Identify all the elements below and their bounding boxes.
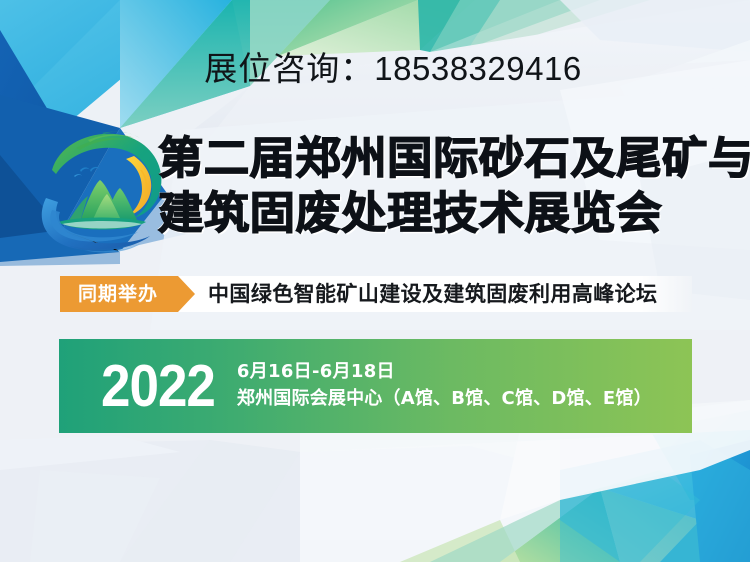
concurrent-forum-strip: 同期举办 中国绿色智能矿山建设及建筑固废利用高峰论坛	[60, 276, 692, 312]
concurrent-forum-title: 中国绿色智能矿山建设及建筑固废利用高峰论坛	[178, 276, 692, 312]
event-details: 6月16日-6月18日 郑州国际会展中心（A馆、B馆、C馆、D馆、E馆）	[237, 359, 692, 413]
poster-title-line-1: 第二届郑州国际砂石及尾矿与	[158, 131, 745, 186]
booth-consult-line: 展位咨询：18538329416	[0, 47, 750, 91]
concurrent-forum-badge: 同期举办	[60, 276, 178, 312]
event-dates: 6月16日-6月18日	[237, 359, 692, 385]
exhibition-poster: 展位咨询：18538329416	[0, 0, 750, 562]
poster-title-line-2: 建筑固废处理技术展览会	[158, 186, 745, 241]
event-venue: 郑州国际会展中心（A馆、B馆、C馆、D馆、E馆）	[237, 385, 692, 413]
event-year: 2022	[101, 356, 215, 415]
poster-title: 第二届郑州国际砂石及尾矿与 建筑固废处理技术展览会	[158, 131, 728, 241]
booth-consult-phone: 18538329416	[374, 50, 581, 87]
booth-consult-label: 展位咨询：	[204, 49, 374, 88]
event-info-bar: 2022 6月16日-6月18日 郑州国际会展中心（A馆、B馆、C馆、D馆、E馆…	[59, 339, 692, 433]
exhibition-logo	[30, 126, 172, 254]
